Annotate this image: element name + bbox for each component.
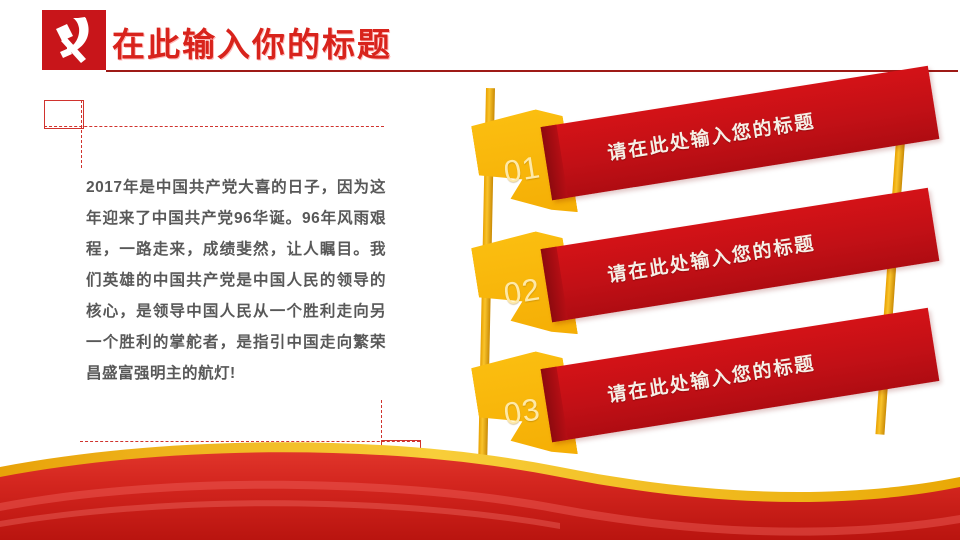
banner-stack: 01 请在此处输入您的标题 02 请在此处输入您的标题 03 请在此处输入您的标… <box>466 78 960 478</box>
banner-title-03: 请在此处输入您的标题 <box>605 348 817 408</box>
wave-graphic <box>0 425 960 540</box>
banner-number-01: 01 <box>501 149 543 190</box>
ribbon-face-02: 请在此处输入您的标题 <box>541 188 940 322</box>
ribbon-face-01: 请在此处输入您的标题 <box>541 66 940 200</box>
decoration-top-left-box <box>44 100 84 129</box>
header-divider <box>106 70 958 72</box>
banner-title-01: 请在此处输入您的标题 <box>605 106 817 166</box>
ribbon-02[interactable]: 请在此处输入您的标题 <box>541 188 940 322</box>
banner-title-02: 请在此处输入您的标题 <box>605 228 817 288</box>
party-emblem-logo <box>42 10 106 70</box>
ribbon-01[interactable]: 请在此处输入您的标题 <box>541 66 940 200</box>
banner-item-01[interactable]: 01 请在此处输入您的标题 <box>466 86 960 206</box>
banner-number-02: 02 <box>501 271 543 312</box>
body-paragraph: 2017年是中国共产党大喜的日子，因为这年迎来了中国共产党96华诞。96年风雨艰… <box>86 172 386 389</box>
decoration-top-left-dashed-horizontal <box>44 126 384 127</box>
ribbon-03[interactable]: 请在此处输入您的标题 <box>541 308 940 442</box>
decoration-top-left-dashed-vertical <box>81 100 82 168</box>
ribbon-face-03: 请在此处输入您的标题 <box>541 308 940 442</box>
footer-wave-decoration <box>0 425 960 540</box>
banner-item-02[interactable]: 02 请在此处输入您的标题 <box>466 208 960 328</box>
hammer-and-sickle-icon <box>42 10 106 70</box>
slide-canvas: 在此输入你的标题 2017年是中国共产党大喜的日子，因为这年迎来了中国共产党96… <box>0 0 960 540</box>
page-title: 在此输入你的标题 <box>112 18 392 66</box>
